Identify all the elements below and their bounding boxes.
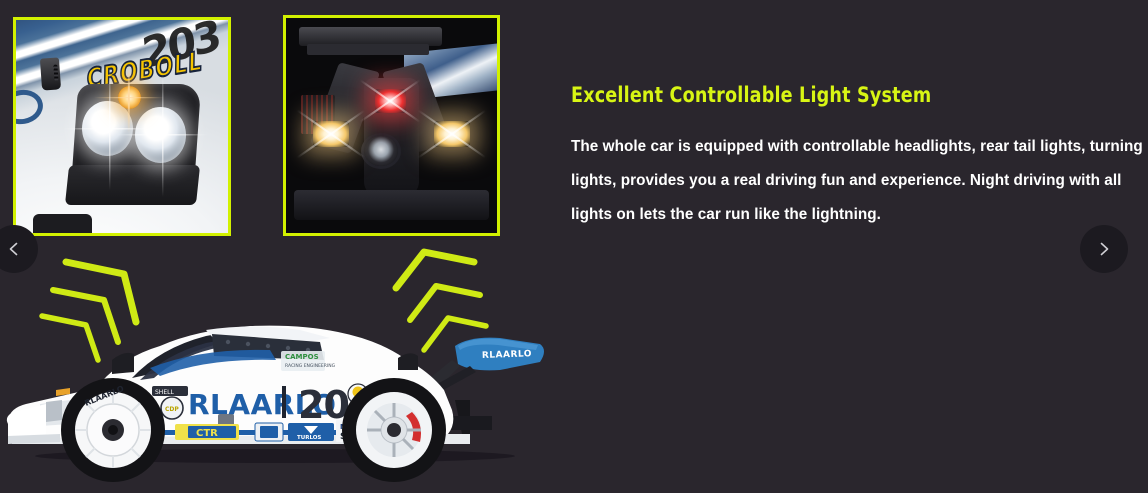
chevron-left-icon [6, 241, 22, 257]
carousel-next-button[interactable] [1080, 225, 1128, 273]
photo-headlight-image: 203 CROBOLL [16, 20, 228, 233]
headlamp-right [135, 107, 186, 162]
photo-rear-light-closeup[interactable] [283, 15, 500, 236]
differential-hub [364, 136, 398, 166]
car-illustration: RLAARLO [0, 238, 560, 493]
front-splitter [33, 214, 92, 233]
headlamp-left [82, 101, 133, 156]
rc-car-side-view: RLAARLO [0, 238, 560, 493]
sponsor-laurel-text: CDP [165, 406, 179, 413]
feature-copy: Excellent Controllable Light System The … [571, 82, 1146, 232]
reverse-light-right [434, 121, 470, 147]
brake-light-red [375, 89, 407, 113]
roof-scoop [112, 353, 134, 374]
front-wheel: RLAARLO [61, 378, 165, 482]
svg-text:RACING ENGINEERING: RACING ENGINEERING [285, 363, 336, 369]
wing-brand-text: RLAARLO [482, 349, 532, 361]
front-lower-intake [65, 165, 201, 205]
sponsor-turlos-text: TURLOS [297, 435, 321, 441]
sponsor-campos-text: CAMPOS [285, 353, 319, 361]
feature-title: Excellent Controllable Light System [571, 82, 1106, 108]
rear-chassis-brace [307, 44, 429, 55]
rear-scoop [398, 353, 418, 370]
front-headlight-glass [46, 400, 62, 422]
decal-divider [282, 386, 286, 418]
speed-chevrons-left [42, 262, 136, 360]
chevron-right-icon [1096, 241, 1112, 257]
photo-rear-image [286, 18, 497, 233]
rear-wheel [342, 378, 446, 482]
product-feature-slide: 203 CROBOLL [0, 0, 1148, 493]
feature-description: The whole car is equipped with controlla… [571, 130, 1146, 232]
photo-headlight-closeup[interactable]: 203 CROBOLL [13, 17, 231, 236]
sponsor-ctr-text: CTR [196, 428, 218, 439]
side-mirror [40, 58, 61, 91]
sponsor-shell-text: SHELL [155, 389, 174, 396]
reverse-light-left [313, 121, 349, 147]
speed-chevrons-right [396, 252, 486, 350]
rear-diffuser-deck [294, 190, 488, 220]
